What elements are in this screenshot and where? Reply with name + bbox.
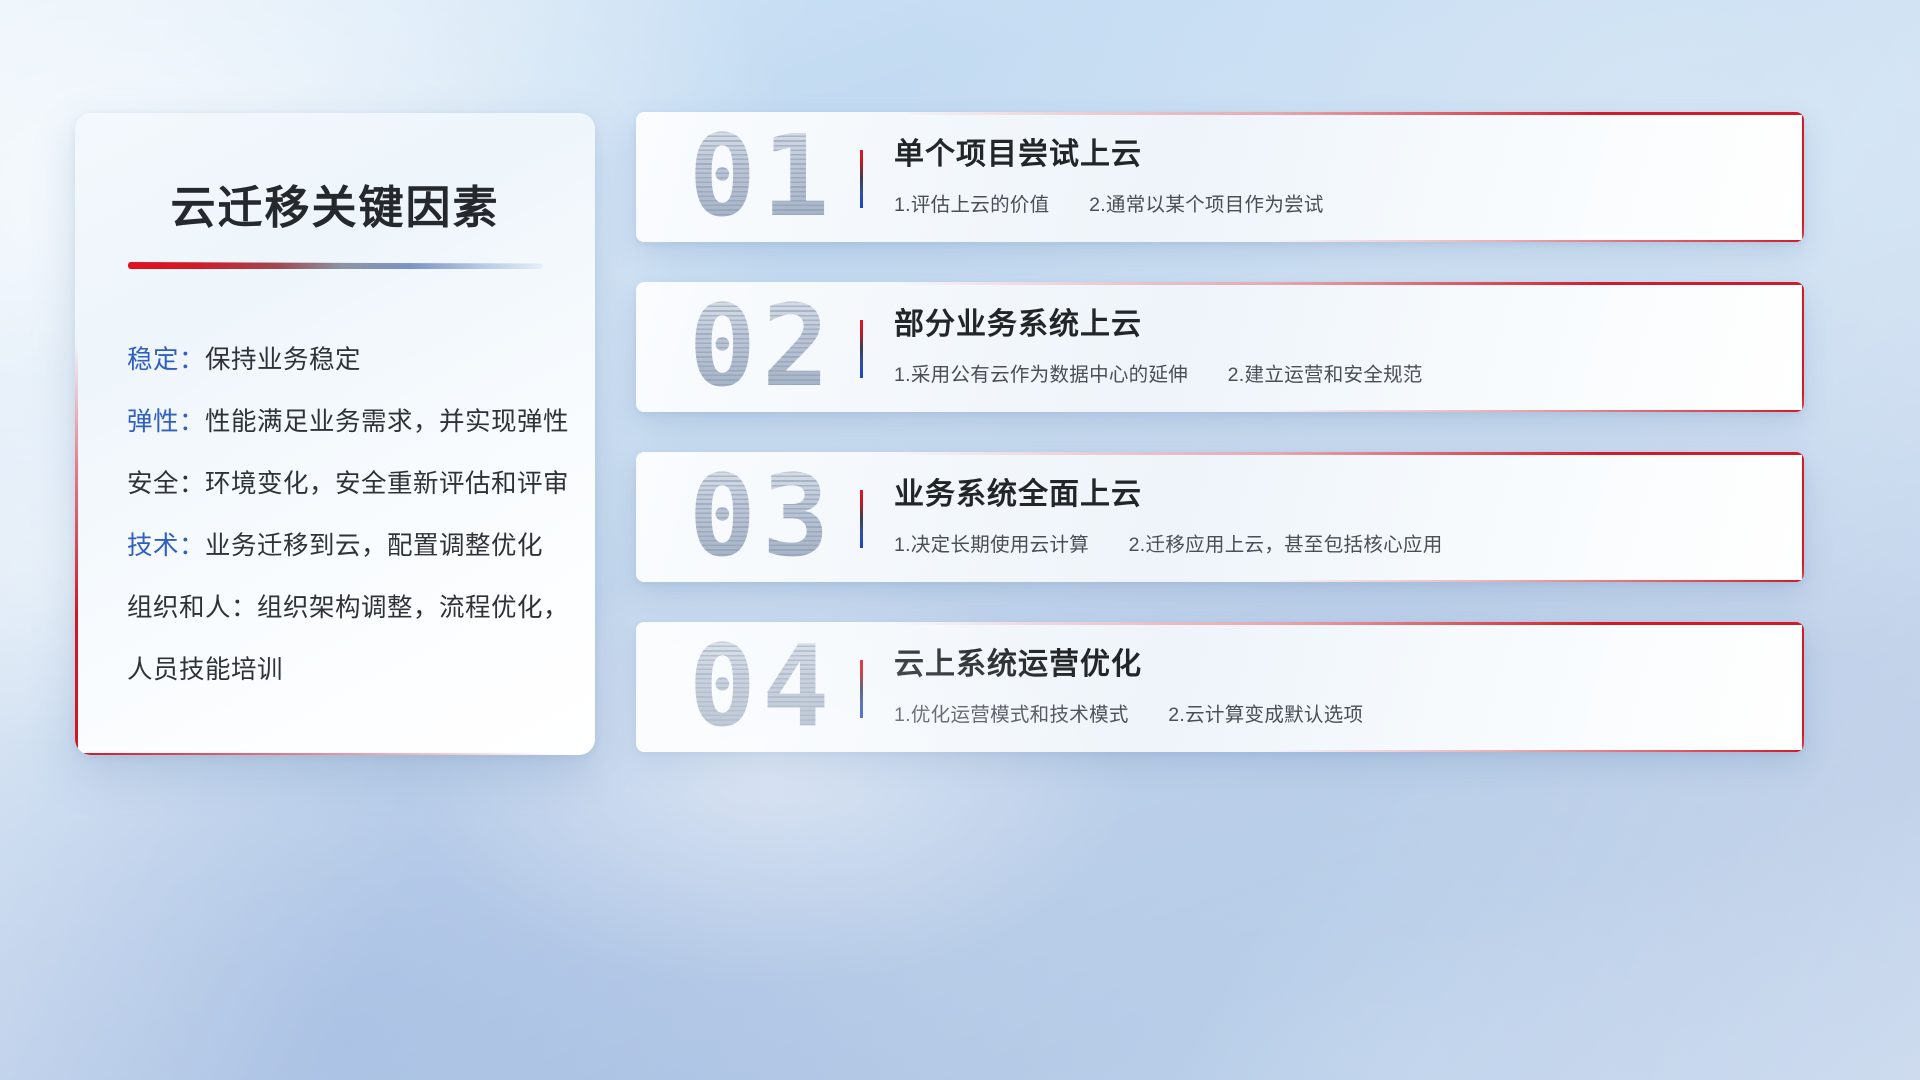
stage-card-01[interactable]: 01 单个项目尝试上云 1.评估上云的价值 2.通常以某个项目作为尝试 [636, 112, 1804, 242]
card-accent-line [1267, 240, 1804, 243]
factor-value: 组织架构调整，流程优化， [257, 594, 569, 622]
factor-value: 保持业务稳定 [205, 346, 361, 374]
stage-card-02[interactable]: 02 部分业务系统上云 1.采用公有云作为数据中心的延伸 2.建立运营和安全规范 [636, 282, 1804, 412]
stage-divider-bar [860, 490, 863, 548]
stage-number-04: 04 [662, 622, 862, 752]
key-factors-panel: 云迁移关键因素 稳定：保持业务稳定 弹性：性能满足业务需求，并实现弹性 安全：环… [75, 113, 595, 755]
stage-number-03: 03 [662, 452, 862, 582]
migration-stages-list: 01 单个项目尝试上云 1.评估上云的价值 2.通常以某个项目作为尝试 02 部… [636, 112, 1804, 792]
stage-title: 业务系统全面上云 [894, 474, 1764, 516]
stage-subtitle: 1.决定长期使用云计算 2.迁移应用上云，甚至包括核心应用 [894, 528, 1764, 557]
list-item: 技术：业务迁移到云，配置调整优化 [127, 515, 557, 577]
list-item: 人员技能培训 [127, 639, 557, 701]
page-title: 云迁移关键因素 [113, 171, 557, 236]
stage-number-02: 02 [662, 282, 862, 412]
stage-divider-bar [860, 150, 863, 208]
factor-key: 组织和人： [127, 594, 257, 622]
factor-key: 技术： [127, 532, 205, 560]
stage-subtitle: 1.采用公有云作为数据中心的延伸 2.建立运营和安全规范 [894, 358, 1764, 387]
factor-key: 弹性： [127, 408, 205, 436]
stage-card-04[interactable]: 04 云上系统运营优化 1.优化运营模式和技术模式 2.云计算变成默认选项 [636, 622, 1804, 752]
card-accent-line [1267, 750, 1804, 753]
key-factors-list: 稳定：保持业务稳定 弹性：性能满足业务需求，并实现弹性 安全：环境变化，安全重新… [113, 329, 557, 701]
slide-canvas: 云迁移关键因素 稳定：保持业务稳定 弹性：性能满足业务需求，并实现弹性 安全：环… [0, 0, 1920, 1080]
factor-value: 人员技能培训 [127, 656, 283, 684]
stage-subtitle: 1.优化运营模式和技术模式 2.云计算变成默认选项 [894, 698, 1764, 727]
factor-key: 安全： [127, 470, 205, 498]
stage-title: 云上系统运营优化 [894, 644, 1764, 686]
list-item: 弹性：性能满足业务需求，并实现弹性 [127, 391, 557, 453]
stage-subtitle: 1.评估上云的价值 2.通常以某个项目作为尝试 [894, 188, 1764, 217]
list-item: 安全：环境变化，安全重新评估和评审 [127, 453, 557, 515]
factor-key: 稳定： [127, 346, 205, 374]
factor-value: 环境变化，安全重新评估和评审 [205, 470, 569, 498]
list-item: 稳定：保持业务稳定 [127, 329, 557, 391]
stage-divider-bar [860, 660, 863, 718]
card-accent-line [1267, 580, 1804, 583]
stage-number-01: 01 [662, 112, 862, 242]
title-underline-gradient [128, 262, 543, 269]
card-accent-line [1267, 410, 1804, 413]
stage-title: 单个项目尝试上云 [894, 134, 1764, 176]
factor-value: 业务迁移到云，配置调整优化 [205, 532, 543, 560]
stage-divider-bar [860, 320, 863, 378]
list-item: 组织和人：组织架构调整，流程优化， [127, 577, 557, 639]
stage-title: 部分业务系统上云 [894, 304, 1764, 346]
stage-card-03[interactable]: 03 业务系统全面上云 1.决定长期使用云计算 2.迁移应用上云，甚至包括核心应… [636, 452, 1804, 582]
factor-value: 性能满足业务需求，并实现弹性 [205, 408, 569, 436]
